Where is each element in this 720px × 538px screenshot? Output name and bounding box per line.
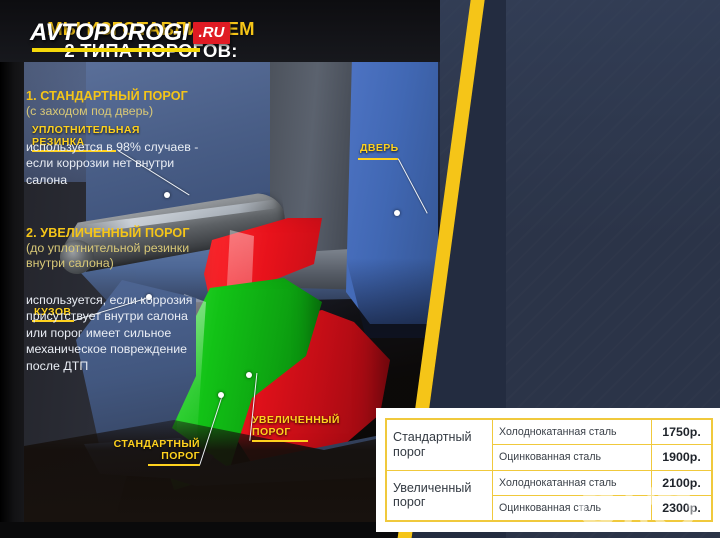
brand-logo[interactable]: AVTOPOROGI .RU	[30, 20, 230, 46]
section-1-title: 1. СТАНДАРТНЫЙ ПОРОГ	[26, 89, 188, 104]
section-1-body: используется в 98% случаев - если корроз…	[26, 139, 198, 188]
infographic-canvas: УПЛОТНИТЕЛЬНАЯ РЕЗИНКА ДВЕРЬ КУЗОВ СТАНД…	[0, 0, 720, 538]
price-table: Стандартный порог Холоднокатанная сталь …	[385, 418, 713, 522]
cell-steel-type: Оцинкованная сталь	[493, 445, 652, 470]
cell-sill-type: Увеличенный порог	[387, 470, 493, 521]
cell-sill-type: Стандартный порог	[387, 420, 493, 471]
leader-dot-door	[394, 210, 400, 216]
logo-wordmark: AVTOPOROGI	[30, 20, 188, 46]
section-1-subtitle: (с заходом под дверь)	[26, 104, 153, 119]
section-2-body: используется, если коррозия присутствует…	[26, 292, 193, 374]
table-row: Увеличенный порог Холоднокатанная сталь …	[387, 470, 712, 495]
label-door: ДВЕРЬ	[360, 142, 399, 154]
cell-steel-type: Холоднокатанная сталь	[493, 470, 652, 495]
cell-price: 2100р.	[652, 470, 712, 495]
cell-price: 2300р.	[652, 495, 712, 520]
label-door-underline	[358, 158, 398, 160]
info-panel-content: МЫ ИЗГОТАВЛИВАЕМ 2 ТИПА ПОРОГОВ: 1. СТАН…	[0, 0, 280, 538]
cell-steel-type: Оцинкованная сталь	[493, 495, 652, 520]
cell-steel-type: Холоднокатанная сталь	[493, 420, 652, 445]
table-row: Стандартный порог Холоднокатанная сталь …	[387, 420, 712, 445]
logo-underline-bar	[32, 48, 200, 52]
cell-price: 1750р.	[652, 420, 712, 445]
section-2-subtitle: (до уплотнительной резинки внутри салона…	[26, 241, 189, 270]
logo-tld-badge: .RU	[193, 22, 230, 44]
section-2-title: 2. УВЕЛИЧЕННЫЙ ПОРОГ	[26, 226, 190, 241]
cell-price: 1900р.	[652, 445, 712, 470]
